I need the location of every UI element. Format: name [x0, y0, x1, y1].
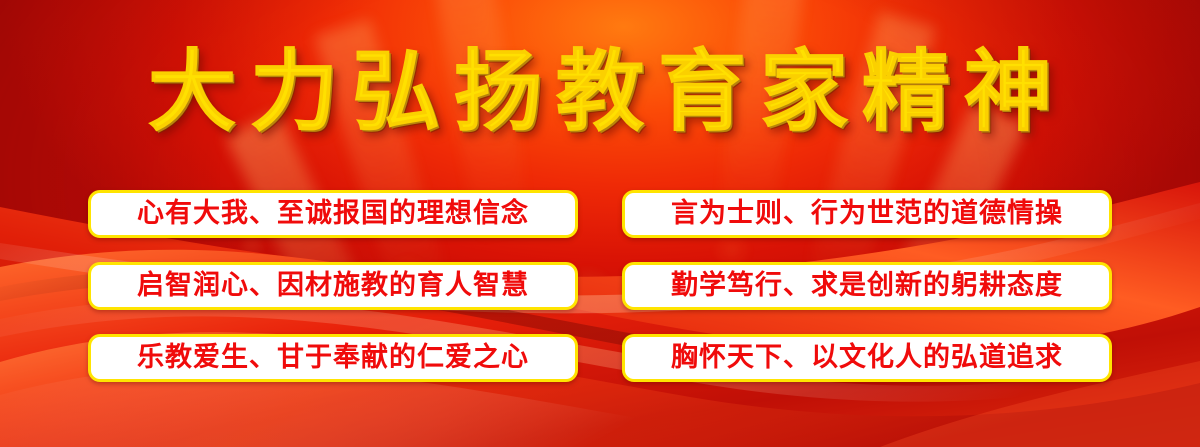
slogan-chip-3: 启智润心、因材施教的育人智慧 — [88, 262, 578, 310]
slogan-chip-1: 心有大我、至诚报国的理想信念 — [88, 190, 578, 238]
banner-title-container: 大力弘扬教育家精神 — [0, 38, 1200, 146]
slogan-text: 勤学笃行、求是创新的躬耕态度 — [671, 271, 1063, 301]
education-spirit-banner: 大力弘扬教育家精神 心有大我、至诚报国的理想信念 言为士则、行为世范的道德情操 … — [0, 0, 1200, 447]
slogan-grid: 心有大我、至诚报国的理想信念 言为士则、行为世范的道德情操 启智润心、因材施教的… — [88, 190, 1112, 382]
slogan-text: 启智润心、因材施教的育人智慧 — [137, 271, 529, 301]
banner-title: 大力弘扬教育家精神 — [134, 44, 1066, 140]
slogan-chip-5: 乐教爱生、甘于奉献的仁爱之心 — [88, 334, 578, 382]
slogan-chip-6: 胸怀天下、以文化人的弘道追求 — [622, 334, 1112, 382]
slogan-text: 心有大我、至诚报国的理想信念 — [137, 199, 529, 229]
slogan-text: 言为士则、行为世范的道德情操 — [671, 199, 1063, 229]
slogan-text: 胸怀天下、以文化人的弘道追求 — [671, 343, 1063, 373]
slogan-chip-4: 勤学笃行、求是创新的躬耕态度 — [622, 262, 1112, 310]
slogan-text: 乐教爱生、甘于奉献的仁爱之心 — [137, 343, 529, 373]
slogan-chip-2: 言为士则、行为世范的道德情操 — [622, 190, 1112, 238]
